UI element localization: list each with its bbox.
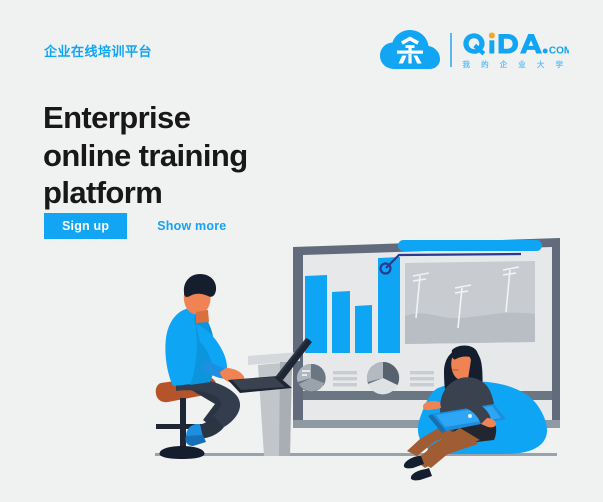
kicker-text: 企业在线培训平台 <box>44 41 152 60</box>
headline-line-3: platform <box>43 174 343 212</box>
logo-subtitle: 我 的 企 业 大 学 <box>461 59 569 70</box>
logo-wordmark-block: COM 我 的 企 业 大 学 <box>461 31 569 70</box>
headline-line-1: Enterprise <box>43 99 343 137</box>
text-lines-1 <box>333 371 357 386</box>
logo-divider <box>450 33 452 67</box>
map-panel <box>405 261 535 344</box>
logo-wordmark: COM <box>461 31 569 57</box>
training-illustration <box>0 228 603 502</box>
brand-logo[interactable]: COM 我 的 企 业 大 学 <box>379 28 569 72</box>
cloud-logo-icon <box>379 29 441 71</box>
title-pill-bar <box>398 240 542 251</box>
headline-line-2: online training <box>43 137 343 175</box>
page-title: Enterprise online training platform <box>43 99 343 212</box>
svg-text:COM: COM <box>549 45 569 55</box>
promo-banner: 企业在线培训平台 <box>0 0 603 502</box>
pie-widget-2 <box>367 362 399 394</box>
text-lines-2 <box>410 371 434 386</box>
